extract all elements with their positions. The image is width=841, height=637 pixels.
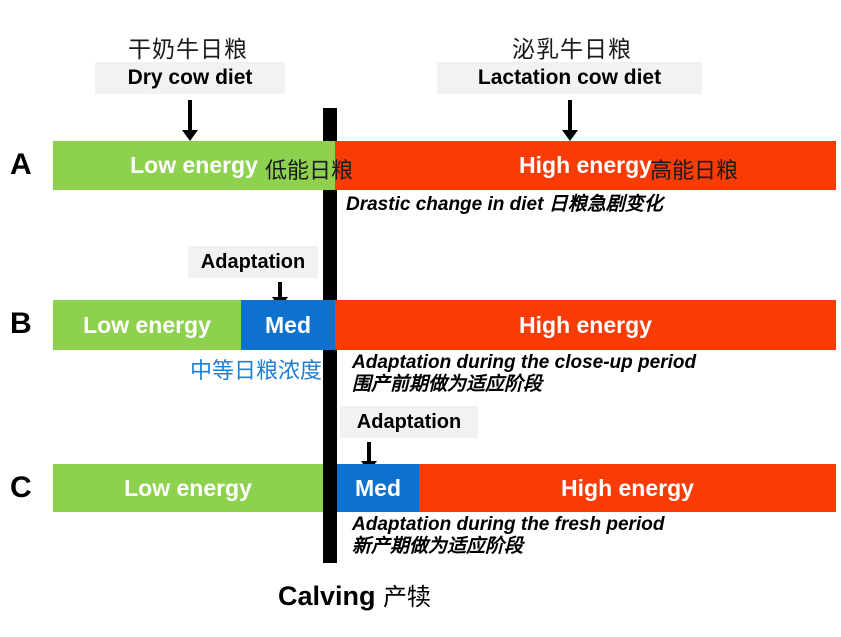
row-c-low-energy-segment: Low energy: [53, 464, 323, 512]
row-a-caption-chinese: 日粮急剧变化: [549, 193, 663, 215]
row-b-adaptation-box: Adaptation: [188, 246, 318, 278]
row-b-high-energy-segment: High energy: [335, 300, 836, 350]
lactation-cow-diet-chinese-label: 泌乳牛日粮: [512, 30, 632, 64]
row-c-med-energy-segment: Med: [337, 464, 419, 512]
row-c-caption-english: Adaptation during the fresh period: [352, 514, 664, 536]
row-b-caption-english: Adaptation during the close-up period: [352, 352, 696, 374]
row-b-med-energy-segment: Med: [241, 300, 335, 350]
calving-label: Calving 产犊: [278, 577, 431, 612]
dry-cow-diet-chinese-label: 干奶牛日粮: [128, 30, 248, 64]
row-letter-a: A: [10, 148, 32, 182]
row-b-med-chinese-overlay: 中等日粮浓度: [190, 353, 322, 385]
row-c-caption: Adaptation during the fresh period 新产期做为…: [352, 514, 664, 558]
row-a-high-energy-segment: High energy: [335, 141, 836, 190]
row-b-caption: Adaptation during the close-up period 围产…: [352, 352, 696, 396]
row-a-caption-english: Drastic change in diet: [346, 194, 543, 215]
row-a-high-energy-chinese-overlay: 高能日粮: [650, 153, 738, 185]
row-c-caption-chinese: 新产期做为适应阶段: [352, 536, 664, 558]
row-b-low-energy-segment: Low energy: [53, 300, 241, 350]
lactation-cow-diet-box: Lactation cow diet: [437, 62, 702, 94]
row-c-high-energy-segment: High energy: [419, 464, 836, 512]
dry-cow-diet-box: Dry cow diet: [95, 62, 285, 94]
row-b-caption-chinese: 围产前期做为适应阶段: [352, 374, 696, 396]
row-a-low-energy-chinese-overlay: 低能日粮: [265, 153, 353, 185]
row-c-adaptation-box: Adaptation: [340, 406, 478, 438]
row-letter-b: B: [10, 307, 32, 341]
row-a-caption: Drastic change in diet 日粮急剧变化: [346, 194, 663, 216]
calving-label-chinese: 产犊: [383, 583, 431, 611]
row-letter-c: C: [10, 471, 32, 505]
calving-label-english: Calving: [278, 581, 376, 611]
diagram-canvas: 干奶牛日粮 Dry cow diet 泌乳牛日粮 Lactation cow d…: [0, 0, 841, 637]
